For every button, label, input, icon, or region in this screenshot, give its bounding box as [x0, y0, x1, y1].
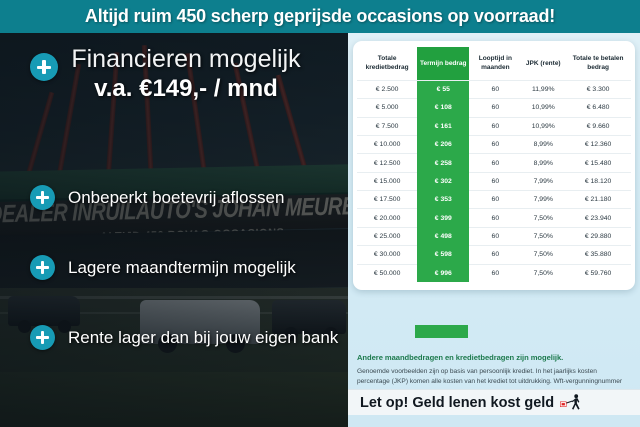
cell-termijn: € 598 — [417, 246, 469, 264]
cell-jkp: 10,99% — [521, 117, 565, 135]
cell-krediet: € 7.500 — [357, 117, 417, 135]
table-row: € 5.000 € 108 60 10,99% € 6.480 — [357, 99, 631, 117]
bullet-item-financing — [30, 53, 348, 81]
column-header-krediet: Totale kredietbedrag — [357, 47, 417, 80]
column-header-looptijd: Looptijd in maanden — [469, 47, 521, 80]
cell-termijn: € 108 — [417, 99, 469, 117]
cell-totaal: € 18.120 — [565, 172, 631, 190]
cell-jkp: 7,50% — [521, 246, 565, 264]
cell-jkp: 7,50% — [521, 264, 565, 282]
cell-totaal: € 23.940 — [565, 209, 631, 227]
cell-looptijd: 60 — [469, 209, 521, 227]
rates-card: Totale kredietbedrag Termijn bedrag Loop… — [353, 41, 635, 290]
table-header-row: Totale kredietbedrag Termijn bedrag Loop… — [357, 47, 631, 80]
cell-termijn: € 399 — [417, 209, 469, 227]
cell-looptijd: 60 — [469, 191, 521, 209]
cell-krediet: € 17.500 — [357, 191, 417, 209]
cell-krediet: € 25.000 — [357, 227, 417, 245]
cell-krediet: € 12.500 — [357, 154, 417, 172]
bullet-label: Onbeperkt boetevrij aflossen — [68, 188, 284, 208]
rates-table: Totale kredietbedrag Termijn bedrag Loop… — [357, 47, 631, 282]
column-header-jkp: JPK (rente) — [521, 47, 565, 80]
plus-circle-icon — [30, 325, 55, 350]
cell-looptijd: 60 — [469, 227, 521, 245]
table-row: € 20.000 € 399 60 7,50% € 23.940 — [357, 209, 631, 227]
warning-bar: Let op! Geld lenen kost geld — [348, 389, 640, 415]
cell-looptijd: 60 — [469, 172, 521, 190]
cell-jkp: 10,99% — [521, 99, 565, 117]
cell-krediet: € 15.000 — [357, 172, 417, 190]
bullet-item-rente: Rente lager dan bij jouw eigen bank — [30, 325, 348, 350]
cell-termijn: € 206 — [417, 135, 469, 153]
promo-banner-text: Altijd ruim 450 scherp geprijsde occasio… — [85, 6, 555, 27]
left-content-panel: Financieren mogelijk v.a. €149,- / mnd O… — [0, 33, 348, 427]
cell-looptijd: 60 — [469, 264, 521, 282]
table-row: € 12.500 € 258 60 8,99% € 15.480 — [357, 154, 631, 172]
cell-termijn: € 353 — [417, 191, 469, 209]
cell-looptijd: 60 — [469, 99, 521, 117]
cell-krediet: € 5.000 — [357, 99, 417, 117]
table-row: € 7.500 € 161 60 10,99% € 9.660 — [357, 117, 631, 135]
cell-krediet: € 10.000 — [357, 135, 417, 153]
disclaimer-heading: Andere maandbedragen en kredietbedragen … — [357, 353, 631, 363]
cell-looptijd: 60 — [469, 246, 521, 264]
cell-jkp: 7,99% — [521, 172, 565, 190]
right-info-panel: Totale kredietbedrag Termijn bedrag Loop… — [348, 33, 640, 427]
cell-termijn: € 55 — [417, 80, 469, 98]
cell-totaal: € 12.360 — [565, 135, 631, 153]
bullet-item-aflossen: Onbeperkt boetevrij aflossen — [30, 185, 348, 210]
cell-termijn: € 302 — [417, 172, 469, 190]
cell-krediet: € 30.000 — [357, 246, 417, 264]
table-row: € 2.500 € 55 60 11,99% € 3.300 — [357, 80, 631, 98]
cell-totaal: € 29.880 — [565, 227, 631, 245]
cell-totaal: € 15.480 — [565, 154, 631, 172]
column-header-termijn: Termijn bedrag — [417, 47, 469, 80]
cell-krediet: € 20.000 — [357, 209, 417, 227]
table-row: € 50.000 € 996 60 7,50% € 59.760 — [357, 264, 631, 282]
table-row: € 30.000 € 598 60 7,50% € 35.880 — [357, 246, 631, 264]
cell-jkp: 7,99% — [521, 191, 565, 209]
plus-circle-icon — [30, 185, 55, 210]
warning-text: Let op! Geld lenen kost geld — [360, 395, 554, 411]
promo-banner: Altijd ruim 450 scherp geprijsde occasio… — [0, 0, 640, 33]
cell-jkp: 8,99% — [521, 135, 565, 153]
table-row: € 15.000 € 302 60 7,99% € 18.120 — [357, 172, 631, 190]
cell-looptijd: 60 — [469, 80, 521, 98]
table-row: € 17.500 € 353 60 7,99% € 21.180 — [357, 191, 631, 209]
cell-totaal: € 21.180 — [565, 191, 631, 209]
cell-jkp: 7,50% — [521, 227, 565, 245]
cell-totaal: € 3.300 — [565, 80, 631, 98]
cell-termijn: € 161 — [417, 117, 469, 135]
cell-totaal: € 59.760 — [565, 264, 631, 282]
money-warning-icon — [560, 394, 582, 411]
rates-table-body: € 2.500 € 55 60 11,99% € 3.300 € 5.000 €… — [357, 80, 631, 282]
cell-krediet: € 2.500 — [357, 80, 417, 98]
cell-jkp: 8,99% — [521, 154, 565, 172]
bullet-label: Rente lager dan bij jouw eigen bank — [68, 328, 338, 348]
cell-looptijd: 60 — [469, 154, 521, 172]
table-row: € 25.000 € 498 60 7,50% € 29.880 — [357, 227, 631, 245]
cell-krediet: € 50.000 — [357, 264, 417, 282]
cell-termijn: € 258 — [417, 154, 469, 172]
cell-jkp: 11,99% — [521, 80, 565, 98]
cell-looptijd: 60 — [469, 135, 521, 153]
cell-totaal: € 35.880 — [565, 246, 631, 264]
cell-termijn: € 498 — [417, 227, 469, 245]
bullet-label: Lagere maandtermijn mogelijk — [68, 258, 296, 278]
termijn-column-overhang — [415, 325, 468, 338]
bullet-item-maandtermijn: Lagere maandtermijn mogelijk — [30, 255, 348, 280]
plus-circle-icon — [30, 53, 58, 81]
plus-circle-icon — [30, 255, 55, 280]
cell-jkp: 7,50% — [521, 209, 565, 227]
column-header-totaal: Totale te betalen bedrag — [565, 47, 631, 80]
cell-totaal: € 6.480 — [565, 99, 631, 117]
cell-totaal: € 9.660 — [565, 117, 631, 135]
cell-looptijd: 60 — [469, 117, 521, 135]
cell-termijn: € 996 — [417, 264, 469, 282]
table-row: € 10.000 € 206 60 8,99% € 12.360 — [357, 135, 631, 153]
